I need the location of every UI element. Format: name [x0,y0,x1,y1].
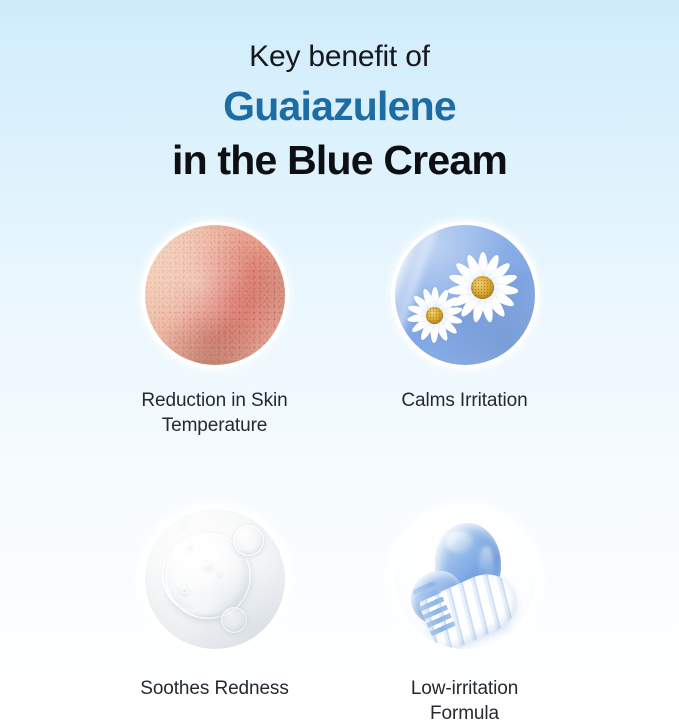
benefit-infographic: Key benefit of Guaiazulene in the Blue C… [0,0,679,679]
skin-texture-art [145,225,285,365]
gel-droplet-art [145,509,285,649]
benefit-label: Low-irritation Formula [411,676,518,726]
chamomile-flowers-on-blue-photo [395,225,535,365]
heading-line-1: Key benefit of [0,38,679,76]
benefit-row-top: Reduction in Skin Temperature [0,222,679,438]
chamomile-art [395,225,535,365]
benefit-item-low-irritation-formula: Low-irritation Formula [340,506,590,726]
benefit-image-wrap [392,506,538,652]
benefit-label: Reduction in Skin Temperature [141,388,287,438]
flower-center [471,276,494,299]
irritated-red-skin-closeup-photo [145,225,285,365]
benefit-label-line-1: Soothes Redness [140,676,289,701]
benefit-row-bottom: Soothes Redness [0,506,679,726]
benefit-item-reduction-in-skin-temperature: Reduction in Skin Temperature [90,222,340,438]
benefit-label: Calms Irritation [401,388,527,413]
flower-center [426,307,443,324]
benefit-label-line-2: Formula [411,701,518,726]
benefit-label-line-1: Low-irritation [411,676,518,701]
benefit-label: Soothes Redness [140,676,289,701]
heading-line-3: in the Blue Cream [0,134,679,186]
gel-sheen-layer [145,509,285,649]
benefit-image-wrap [142,222,288,368]
blue-cream-swirl-photo [395,509,535,649]
benefit-item-calms-irritation: Calms Irritation [340,222,590,438]
chamomile-flower-small [407,287,463,343]
page-title: Key benefit of Guaiazulene in the Blue C… [0,38,679,186]
benefit-grid: Reduction in Skin Temperature [0,222,679,726]
heading-ingredient-name: Guaiazulene [0,80,679,132]
clear-gel-water-droplet-photo [145,509,285,649]
benefit-image-wrap [142,506,288,652]
benefit-label-line-1: Reduction in Skin [141,388,287,413]
benefit-label-line-1: Calms Irritation [401,388,527,413]
benefit-item-soothes-redness: Soothes Redness [90,506,340,726]
benefit-image-wrap [392,222,538,368]
benefit-label-line-2: Temperature [141,413,287,438]
blue-cream-art [395,509,535,649]
skin-shading-layer [145,225,285,365]
